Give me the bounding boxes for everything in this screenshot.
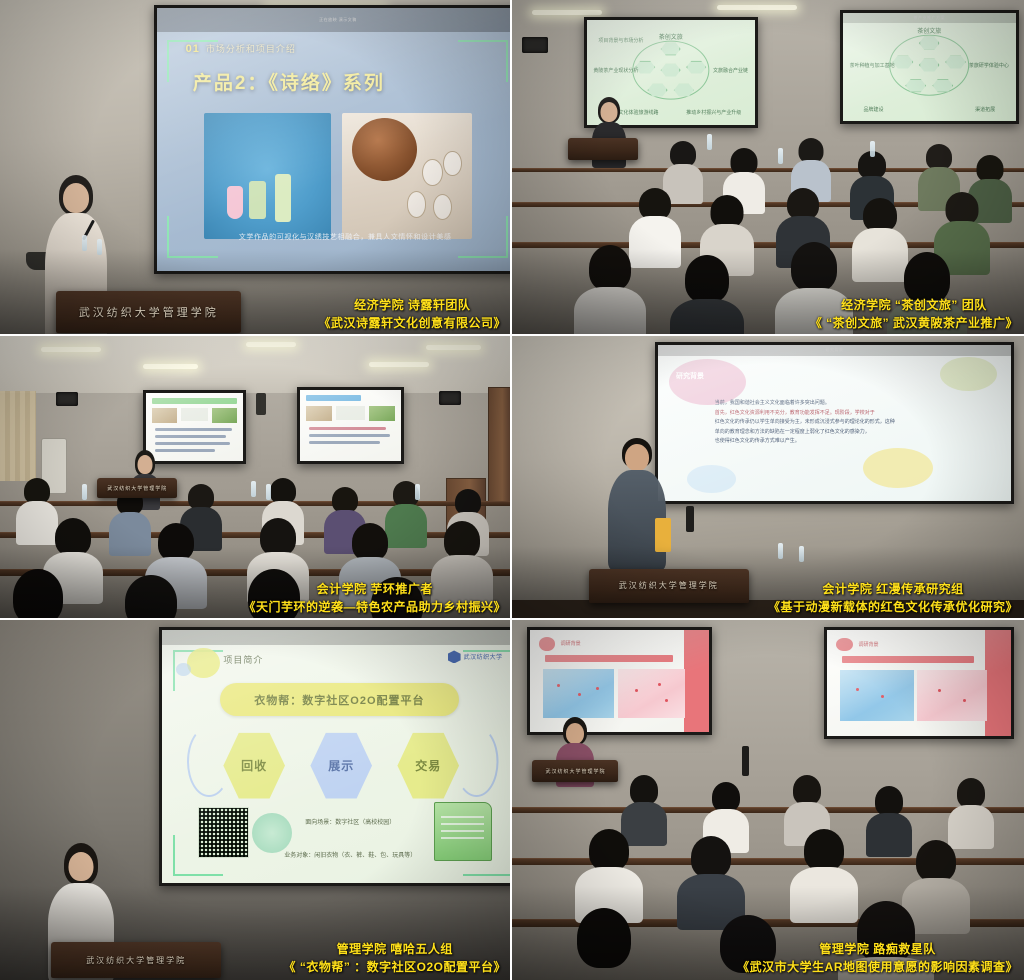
podium: 武汉纺织大学管理学院 [56, 291, 241, 333]
ceiling-light [426, 345, 481, 350]
decorative-blob [687, 465, 736, 493]
slide-content: 项目简介 武汉纺织大学 衣物帮：数字社区O2O配置平台 回收 展示 交易 衣物帮… [162, 630, 512, 883]
pendant-lamp [256, 393, 266, 415]
flower-diagram [632, 41, 709, 100]
university-logo: 武汉纺织大学 [448, 650, 503, 663]
audience-member [686, 836, 736, 916]
corner-mark-icon [458, 40, 509, 82]
projection-screen-right: 茶产业推广方案 茶创文旅 茶叶种植与加工基地 茶旅研学体验中心 品牌建设 [840, 10, 1019, 124]
tote-bag [655, 518, 671, 552]
head [63, 183, 89, 213]
slide-title: 调研背景 [858, 641, 878, 648]
slide-content [300, 390, 402, 461]
caption-line-2: 《武汉诗露轩文化创意有限公司》 [318, 315, 506, 332]
slide-kicker-text: 市场分析和项目介绍 [206, 44, 296, 54]
podium: 武汉纺织大学管理学院 [589, 569, 749, 603]
ceiling-light [41, 347, 101, 352]
slide-foot-left: 品牌建设 [863, 106, 883, 113]
slide-content: 研究背景 研究背景 当前，我国和谐社会主义文化面临着许多突出问题。 首先，红色文… [658, 345, 1010, 501]
ceiling-light [717, 5, 797, 10]
collage-panel-bottom-left: 项目简介 武汉纺织大学 衣物帮：数字社区O2O配置平台 回收 展示 交易 衣物帮… [0, 620, 512, 980]
speaker-icon [439, 391, 461, 405]
slide-kicker: 01市场分析和项目介绍 [186, 42, 296, 55]
slide-topbar: 研究背景 [658, 345, 1010, 356]
map-image-left [840, 670, 913, 721]
product-tag [275, 174, 291, 222]
product-tag [227, 186, 243, 219]
speaker-icon [56, 392, 78, 406]
slide-body-1: 面向场景：数字社区（高校校园） [271, 819, 431, 828]
slide-badge-text: 研究背景 [676, 371, 704, 381]
slide-topbar: 茶产业推广方案 [843, 13, 1016, 23]
water-bottle [266, 484, 271, 500]
head [600, 102, 617, 122]
collage-panel-top-left: 正在放映 演示文稿 01市场分析和项目介绍 产品2：《诗络》系列 [0, 0, 512, 336]
hex-recycle: 回收 [223, 731, 285, 799]
presenter [589, 97, 629, 171]
slide-line-1: 当前，我国和谐社会主义文化面临着许多突出问题。 [715, 399, 990, 409]
smart-bin-illustration [434, 802, 492, 860]
caption-line-1: 管理学院 路痴救星队 [819, 942, 935, 956]
map-image-right [917, 670, 987, 721]
speaker-icon [522, 37, 548, 53]
slide-body-2: 业务对象：闲旧衣物（衣、裤、鞋、包、玩具等） [271, 852, 431, 861]
slide-side-band [985, 630, 1011, 736]
slide-kicker-number: 01 [186, 43, 200, 55]
qr-code [198, 807, 249, 858]
panel-caption: 会计学院 红漫传承研究组 《基于动漫新载体的红色文化传承优化研究》 [768, 581, 1018, 616]
podium-plate-text: 武汉纺织大学管理学院 [107, 485, 167, 492]
podium: 武汉纺织大学管理学院 [51, 942, 221, 978]
caption-line-1: 管理学院 嘻哈五人组 [337, 942, 453, 956]
projection-screen: 项目简介 武汉纺织大学 衣物帮：数字社区O2O配置平台 回收 展示 交易 衣物帮… [159, 627, 512, 886]
decorative-blob [176, 663, 191, 676]
water-bottle [778, 148, 783, 164]
caption-line-1: 会计学院 芋环推广者 [317, 582, 433, 596]
panel-caption: 管理学院 路痴救星队 《武汉市大学生AR地图使用意愿的影响因素调查》 [737, 941, 1018, 976]
podium-plate-text: 武汉纺织大学管理学院 [79, 304, 219, 320]
flower-diagram [889, 35, 969, 96]
decorative-blob [940, 357, 996, 391]
audience-member [113, 489, 147, 549]
audience-member [635, 188, 675, 258]
panel-caption: 经济学院 诗露轩团队 《武汉诗露轩文化创意有限公司》 [318, 297, 506, 332]
slide-topbar [162, 630, 512, 645]
water-bottle [799, 546, 804, 562]
slide-side-band [684, 630, 709, 732]
ceiling-light [246, 342, 296, 347]
audience-member [788, 775, 826, 837]
hex-trade: 交易 [397, 731, 459, 799]
projection-screen: 研究背景 研究背景 当前，我国和谐社会主义文化面临着许多突出问题。 首先，红色文… [655, 342, 1013, 504]
caption-line-2: 《基于动漫新载体的红色文化传承优化研究》 [768, 599, 1018, 616]
slide-center-label: 茶创文旅 [917, 26, 941, 35]
caption-line-1: 经济学院 “茶创文旅” 团队 [841, 298, 987, 312]
product-tag [249, 181, 265, 219]
podium-plate-text: 武汉纺织大学管理学院 [619, 580, 719, 591]
podium: 武汉纺织大学管理学院 [97, 478, 177, 498]
caption-line-2: 《 “茶创文旅” 武汉黄陂茶产业推广》 [810, 315, 1018, 332]
charm [433, 194, 453, 220]
podium-plate-text: 武汉纺织大学管理学院 [86, 955, 186, 966]
podium [568, 138, 638, 160]
slide-foot-right: 渠道拓展 [975, 106, 995, 113]
slide-topbar-label: 正在放映 演示文稿 [319, 17, 357, 23]
water-bottle [870, 141, 875, 157]
map-image-left [543, 669, 614, 718]
water-bottle [415, 484, 420, 500]
university-name: 武汉纺织大学 [464, 652, 503, 661]
audience-member [573, 908, 635, 980]
caption-line-2: 《天门芋环的逆袭—特色农产品助力乡村振兴》 [243, 599, 506, 616]
slide-caption: 文学作品的可视化与汉绣技艺相融合，兼具人文情怀和设计美感 [200, 232, 490, 242]
photo-collage: 正在放映 演示文稿 01市场分析和项目介绍 产品2：《诗络》系列 [0, 0, 1024, 980]
bullet-icon [539, 637, 555, 650]
water-bottle [778, 543, 783, 559]
slide-content: 正在放映 演示文稿 01市场分析和项目介绍 产品2：《诗络》系列 [157, 8, 512, 271]
collage-panel-bottom-right: 调研背景 [512, 620, 1024, 980]
collage-panel-top-right: 项目背景与市场分析 茶创文旅 黄陂茶产业现状分析 文旅融合产业链 打造茶文化体验… [512, 0, 1024, 336]
slide-right-label: 茶旅研学体验中心 [969, 62, 1009, 69]
decorative-blob [863, 448, 933, 489]
audience-member [584, 245, 636, 335]
water-bottle [97, 239, 102, 255]
map-image-right [618, 669, 686, 718]
caption-line-1: 经济学院 诗露轩团队 [354, 298, 470, 312]
bullet-icon [836, 638, 853, 652]
podium: 武汉纺织大学管理学院 [532, 760, 618, 782]
slide-line-4: 单向的教育理念和方法的缺陷在一定程度上弱化了红色文化的感染力， [715, 428, 990, 438]
audience-member [10, 569, 66, 620]
water-bottle [251, 481, 256, 497]
ceiling-light [369, 362, 429, 367]
slide-content: 调研背景 [827, 630, 1010, 736]
audience-member [707, 782, 745, 844]
water-bottle [707, 134, 712, 150]
podium-plate-text: 武汉纺织大学管理学院 [545, 768, 605, 775]
slide-line-2: 首先，红色文化资源利用不充分，教育功能发挥不足。现阶段，学校对于 [715, 409, 990, 419]
slide-left-label: 茶叶种植与加工基地 [850, 62, 895, 69]
ceiling-light [532, 10, 602, 15]
charm [407, 191, 427, 217]
slide-title: 调研背景 [561, 640, 581, 647]
basket-prop [352, 118, 417, 181]
product-photo-left [204, 113, 331, 239]
caption-line-2: 《 “衣物帮” ：数字社区O2O配置平台》 [283, 959, 506, 976]
panel-caption: 管理学院 嘻哈五人组 《 “衣物帮” ：数字社区O2O配置平台》 [283, 941, 506, 976]
audience-member [952, 778, 990, 840]
slide-section-title: 项目简介 [223, 653, 263, 666]
slide-left-label: 黄陂茶产业现状分析 [593, 67, 638, 74]
audience-member [584, 829, 634, 909]
audience-member [20, 478, 54, 538]
mic-stand [686, 506, 694, 532]
projection-screen-right: 调研背景 [824, 627, 1013, 739]
audience-member [860, 198, 900, 268]
arc-decoration [455, 726, 499, 797]
projection-screen: 正在放映 演示文稿 01市场分析和项目介绍 产品2：《诗络》系列 [154, 5, 512, 274]
slide-topbar: 正在放映 演示文稿 [157, 8, 512, 32]
charm [422, 159, 443, 187]
mic-stand [742, 746, 749, 776]
water-bottle [82, 484, 87, 500]
desk-row [512, 807, 1024, 813]
audience-member [799, 829, 849, 909]
slide-line-3: 红色文化的传承仍以学生单向接受为主，未形成沉浸式参与的理论化的形式，这种 [715, 418, 990, 428]
audience-member [625, 775, 663, 837]
hex-display: 展示 [310, 731, 372, 799]
slide-pill-title: 衣物帮：数字社区O2O配置平台 [220, 683, 459, 716]
water-bottle [82, 235, 87, 251]
projection-screen-right [297, 387, 405, 464]
collage-panel-middle-left: 武汉纺织大学管理学院 [0, 336, 512, 620]
ceiling-light [143, 364, 198, 369]
slide-foot-right: 推动乡村振兴与产业升级 [686, 109, 741, 116]
caption-line-2: 《武汉市大学生AR地图使用意愿的影响因素调查》 [737, 959, 1018, 976]
product-photo-right [342, 113, 473, 239]
slide-heading-bar [842, 656, 974, 663]
slide-topbar-label: 茶产业推广方案 [914, 15, 946, 21]
slide-heading-bar [545, 655, 673, 662]
panel-caption: 会计学院 芋环推广者 《天门芋环的逆袭—特色农产品助力乡村振兴》 [243, 581, 506, 616]
desk-row [0, 501, 512, 506]
charm [443, 151, 461, 176]
curtain [0, 391, 36, 481]
audience-member [681, 255, 733, 336]
slide-topbar-label: 研究背景 [826, 347, 844, 353]
slide-body-text: 当前，我国和谐社会主义文化面临着许多突出问题。 首先，红色文化资源利用不充分，教… [715, 399, 990, 447]
university-emblem-icon [448, 650, 461, 663]
arc-decoration [187, 726, 231, 797]
decorative-blob [187, 648, 220, 678]
collage-panel-middle-right: 研究背景 研究背景 当前，我国和谐社会主义文化面临着许多突出问题。 首先，红色文… [512, 336, 1024, 620]
slide-title: 产品2：《诗络》系列 [193, 68, 385, 95]
audience-member [870, 786, 908, 848]
panel-caption: 经济学院 “茶创文旅” 团队 《 “茶创文旅” 武汉黄陂茶产业推广》 [810, 297, 1018, 332]
slide-line-5: 也使得红色文化的传承方式难以产生。 [715, 437, 990, 447]
door [488, 387, 512, 506]
caption-line-1: 会计学院 红漫传承研究组 [822, 582, 963, 596]
slide-content: 茶产业推广方案 茶创文旅 茶叶种植与加工基地 茶旅研学体验中心 品牌建设 [843, 13, 1016, 121]
slide-right-label: 文旅融合产业链 [713, 67, 748, 74]
audience-member [123, 575, 179, 620]
